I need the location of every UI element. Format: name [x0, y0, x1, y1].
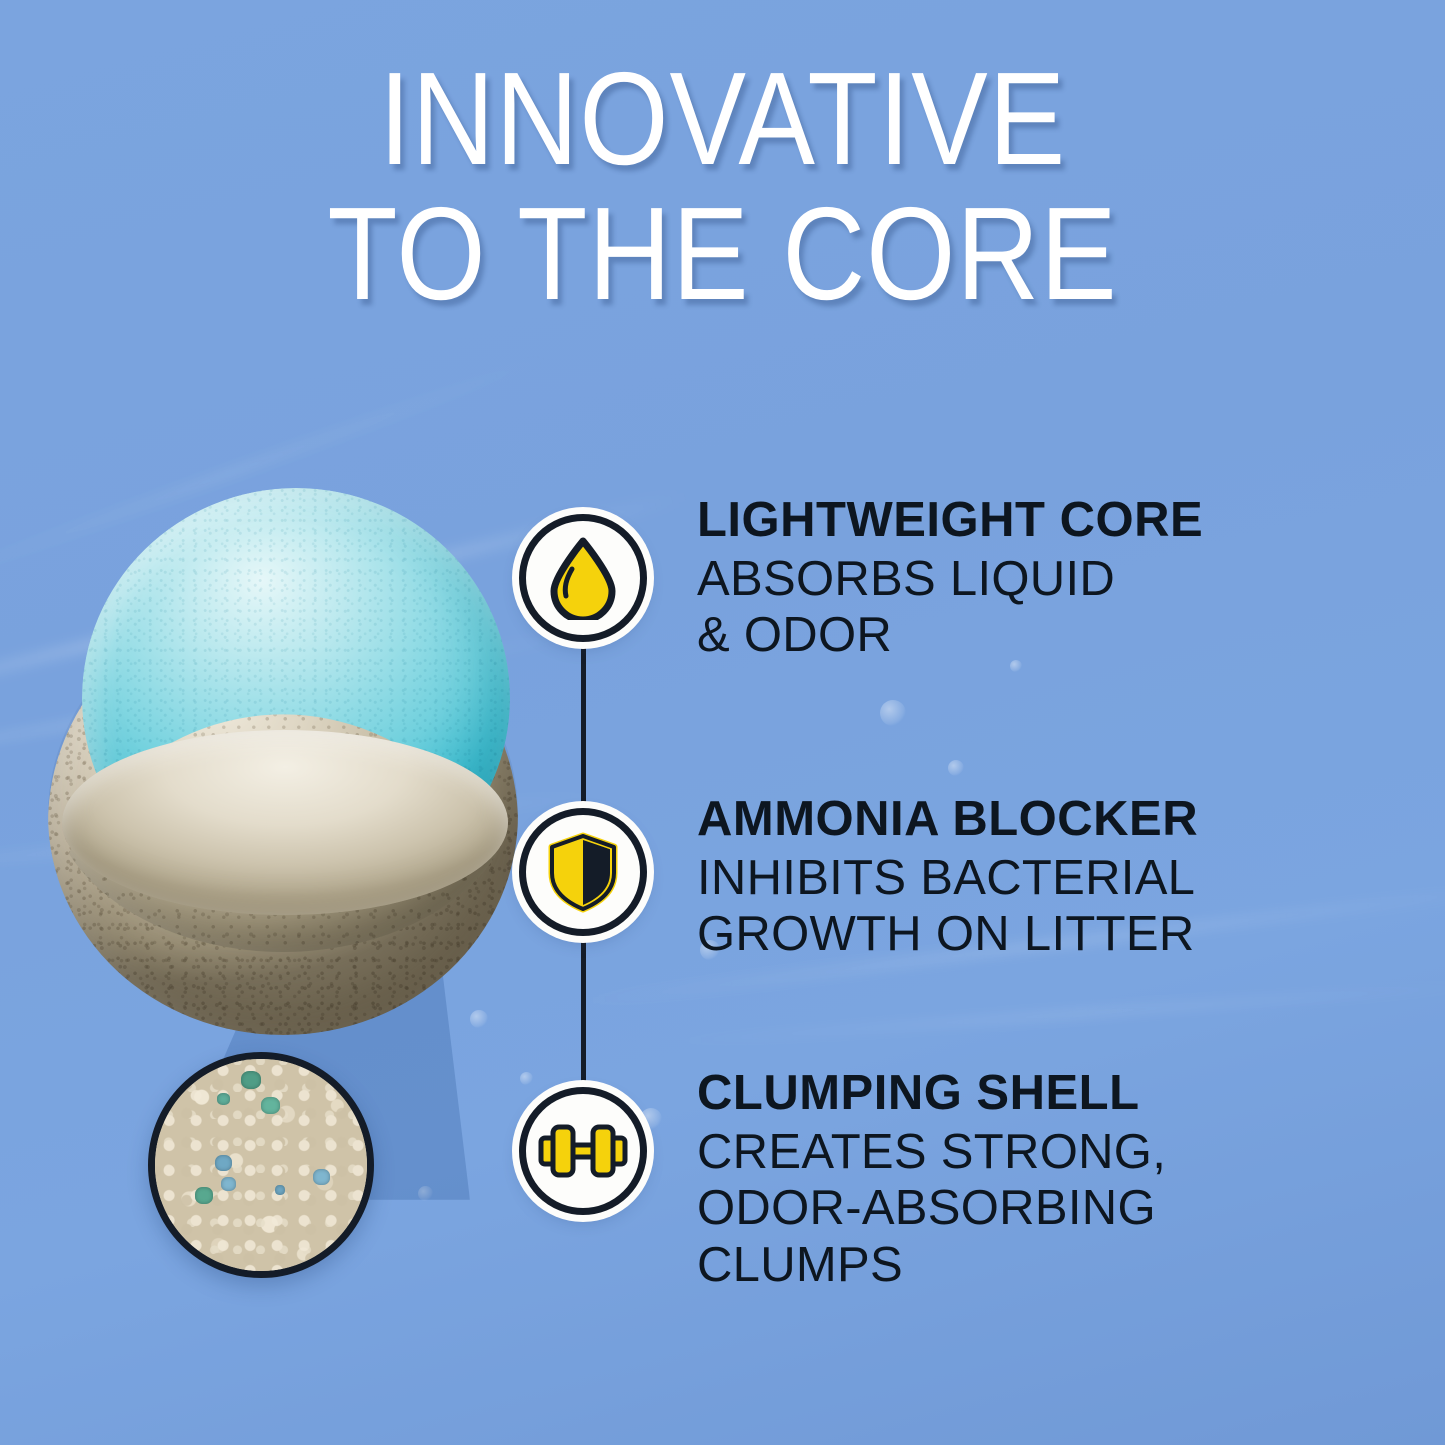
crystal	[275, 1185, 285, 1195]
bokeh-dot	[948, 760, 964, 776]
feature-desc-line: CLUMPS	[697, 1237, 1397, 1293]
feature-description: INHIBITS BACTERIAL GROWTH ON LITTER	[697, 850, 1397, 963]
bokeh-dot	[880, 700, 906, 726]
feature-title: LIGHTWEIGHT CORE	[697, 495, 1397, 547]
crystal	[217, 1093, 230, 1105]
feature-text-3: CLUMPING SHELL CREATES STRONG, ODOR-ABSO…	[697, 1068, 1397, 1293]
dumbbell-icon	[538, 1120, 628, 1182]
connector-line	[581, 648, 586, 818]
feature-badge-droplet	[519, 514, 647, 642]
feature-desc-line: GROWTH ON LITTER	[697, 906, 1397, 962]
shield-icon	[546, 831, 620, 913]
droplet-icon	[546, 536, 620, 620]
crystal	[313, 1169, 330, 1185]
title-line-2: TO THE CORE	[94, 187, 1351, 322]
crystal	[215, 1155, 232, 1171]
crystal	[241, 1071, 261, 1089]
granule-closeup	[148, 1052, 374, 1278]
feature-title: AMMONIA BLOCKER	[697, 794, 1397, 846]
granule-noise	[148, 1052, 374, 1278]
feature-description: CREATES STRONG, ODOR-ABSORBING CLUMPS	[697, 1124, 1397, 1293]
feature-title: CLUMPING SHELL	[697, 1068, 1397, 1120]
light-ray	[641, 979, 1445, 1047]
feature-badge-dumbbell	[519, 1087, 647, 1215]
crystal	[195, 1187, 213, 1204]
feature-text-2: AMMONIA BLOCKER INHIBITS BACTERIAL GROWT…	[697, 794, 1397, 963]
feature-badge-shield	[519, 808, 647, 936]
feature-desc-line: ODOR-ABSORBING	[697, 1180, 1397, 1236]
feature-text-1: LIGHTWEIGHT CORE ABSORBS LIQUID & ODOR	[697, 495, 1397, 664]
feature-desc-line: ABSORBS LIQUID	[697, 551, 1397, 607]
feature-description: ABSORBS LIQUID & ODOR	[697, 551, 1397, 664]
connector-line	[581, 940, 586, 1100]
product-infographic: INNOVATIVE TO THE CORE	[0, 0, 1445, 1445]
page-title: INNOVATIVE TO THE CORE	[0, 52, 1445, 321]
feature-desc-line: INHIBITS BACTERIAL	[697, 850, 1397, 906]
bokeh-dot	[640, 1108, 662, 1130]
shell-inner-rim	[62, 730, 508, 915]
title-line-1: INNOVATIVE	[94, 52, 1351, 187]
crystal	[221, 1177, 236, 1191]
feature-desc-line: CREATES STRONG,	[697, 1124, 1397, 1180]
feature-desc-line: & ODOR	[697, 607, 1397, 663]
crystal	[261, 1097, 280, 1114]
